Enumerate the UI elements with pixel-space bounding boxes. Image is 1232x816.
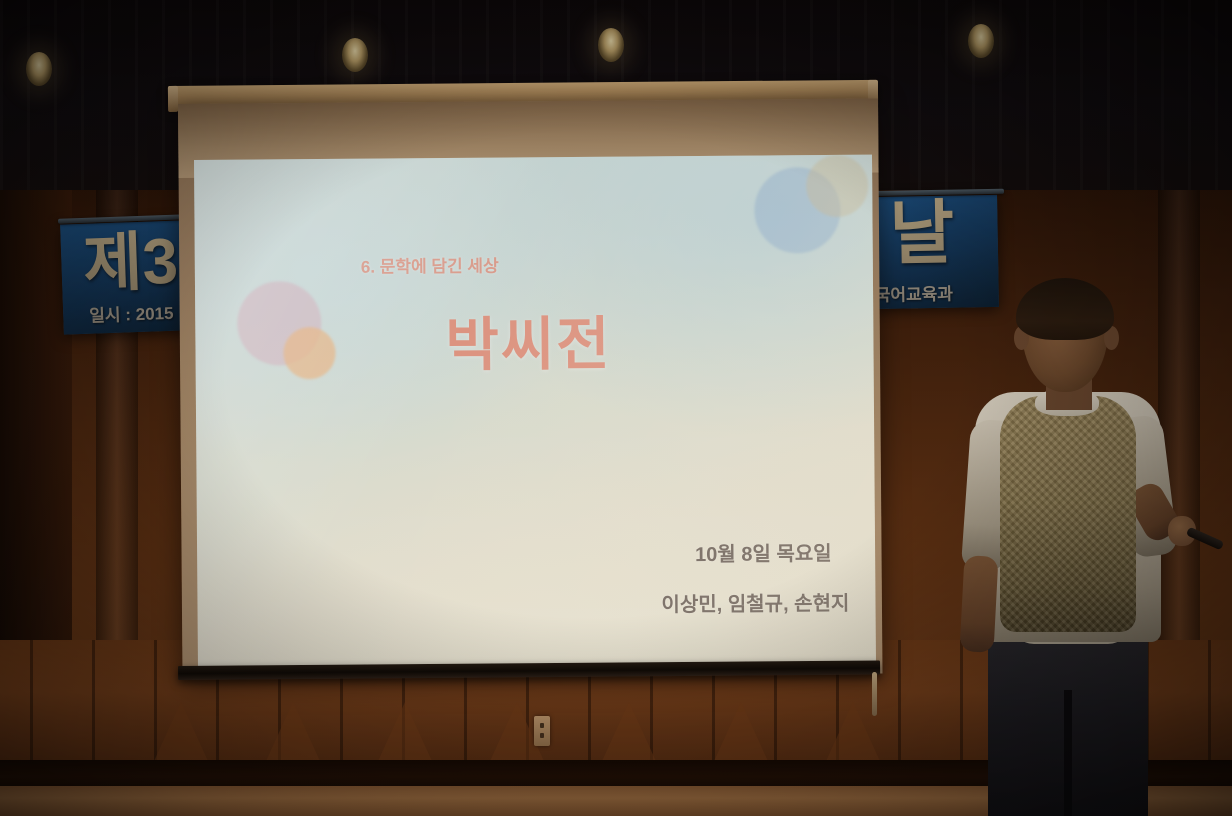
presentation-slide: 6. 문학에 담긴 세상 박씨전 10월 8일 목요일 이상민, 임철규, 손현…: [194, 155, 876, 668]
deco-circle-tan: [806, 155, 868, 217]
deco-circle-orange: [283, 327, 335, 379]
wall-power-outlet[interactable]: [534, 716, 550, 746]
screen-cap-left: [168, 86, 178, 112]
slide-title: 박씨전: [445, 297, 612, 382]
presenter-left-forearm: [960, 555, 999, 653]
right-banner-shade: [865, 195, 999, 309]
screen-pull-cord[interactable]: [872, 672, 877, 716]
right-hanging-banner: 날 국어교육과: [865, 195, 999, 309]
slide-section-heading: 6. 문학에 담긴 세상: [361, 252, 499, 278]
downlight-icon: [26, 52, 52, 86]
downlight-icon: [598, 28, 624, 62]
slide-presenters: 이상민, 임철규, 손현지: [661, 587, 849, 617]
presenter-trouser-seam: [1064, 690, 1072, 816]
slide-date: 10월 8일 목요일: [695, 537, 832, 567]
presenter-knit-vest: [1000, 396, 1136, 632]
downlight-icon: [968, 24, 994, 58]
auditorium-scene: 제3 일시 : 2015 날 국어교육과 6. 문학에 담긴 세상 박씨전 10…: [0, 0, 1232, 816]
downlight-icon: [342, 38, 368, 72]
